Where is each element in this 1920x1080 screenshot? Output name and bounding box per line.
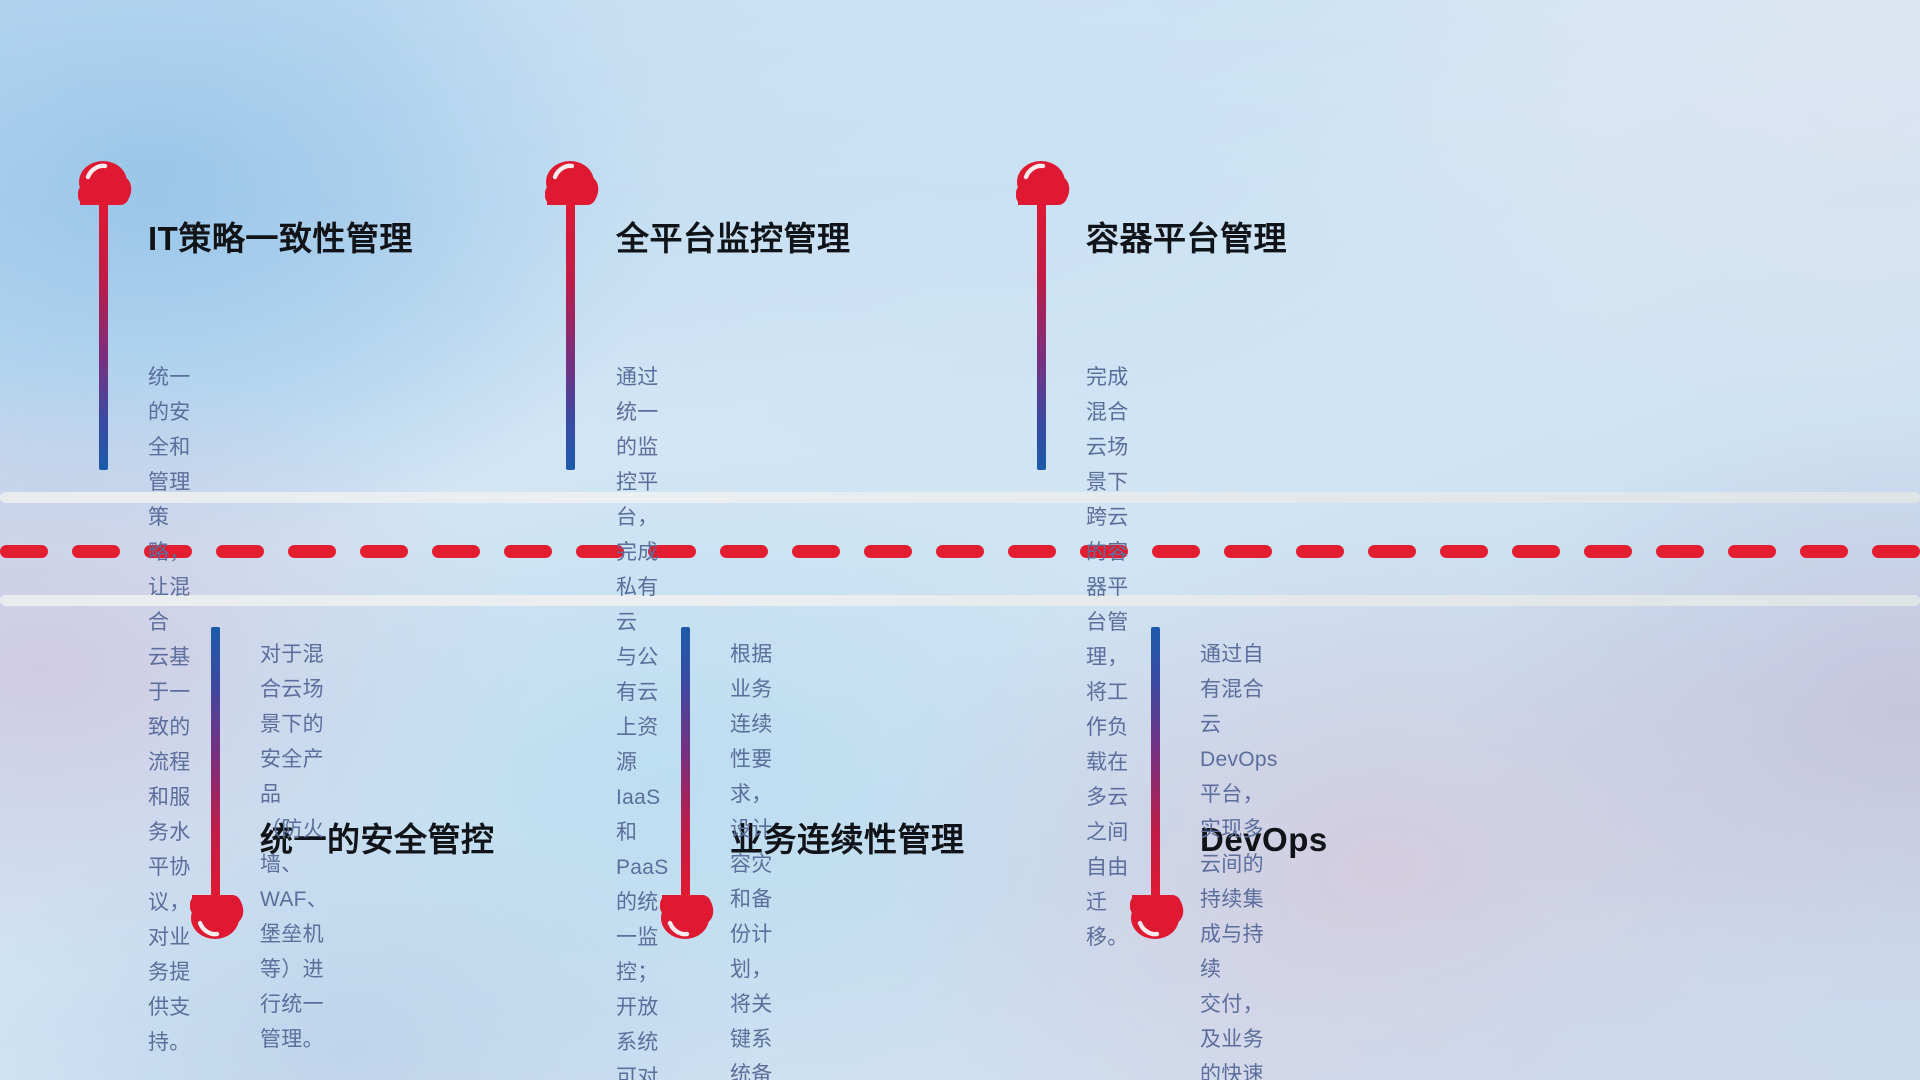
road-dash xyxy=(1224,545,1272,558)
pin-stem xyxy=(211,627,220,897)
card-heading: 全平台监控管理 xyxy=(616,222,851,255)
road-center-dashes xyxy=(0,545,1920,558)
card-heading: 容器平台管理 xyxy=(1086,222,1287,255)
road-dash xyxy=(1368,545,1416,558)
card-body-text: 统一的安全和管理策略，让混合 云基于一致的流程和服务水平协 议，对业务提供支持。 xyxy=(148,360,191,1060)
road-dash xyxy=(288,545,336,558)
road-dash xyxy=(1296,545,1344,558)
road-dash xyxy=(936,545,984,558)
pin-stem xyxy=(99,202,108,470)
cloud-icon xyxy=(184,895,246,940)
cloud-icon xyxy=(1010,160,1072,205)
road-dash xyxy=(1152,545,1200,558)
cloud-icon xyxy=(72,160,134,205)
cloud-icon xyxy=(539,160,601,205)
road-dash xyxy=(1872,545,1920,558)
pin-stem xyxy=(681,627,690,897)
road-dash xyxy=(1656,545,1704,558)
road-dash xyxy=(792,545,840,558)
road-dash xyxy=(72,545,120,558)
card-body-text: 通过统一的监控平台，完成私有云 与公有云上资源IaaS和PaaS的统 一监控；开… xyxy=(616,360,669,1080)
card-body-text: 完成混合云场景下跨云的容器平 台管理，将工作负载在多云之间 自由迁移。 xyxy=(1086,360,1129,955)
road-dash xyxy=(504,545,552,558)
road-dash xyxy=(1584,545,1632,558)
card-body-text: 根据业务连续性要求，设计容灾 和备份计划，将关键系统备份至 线上/线下，并定期校… xyxy=(730,637,773,1080)
pin-stem xyxy=(566,202,575,470)
road-dash xyxy=(864,545,912,558)
cloud-icon xyxy=(654,895,716,940)
card-body-text: 对于混合云场景下的安全产品 （防火墙、WAF、堡垒机等）进 行统一管理。 xyxy=(260,637,328,1057)
road-dash xyxy=(1728,545,1776,558)
card-heading: IT策略一致性管理 xyxy=(148,222,413,255)
cloud-icon xyxy=(1124,895,1186,940)
pin-stem xyxy=(1037,202,1046,470)
road-dash xyxy=(216,545,264,558)
card-body-text: 通过自有混合云DevOps平台， 实现多云间的持续集成与持续 交付，及业务的快速… xyxy=(1200,637,1278,1080)
road-dash xyxy=(432,545,480,558)
road-dash xyxy=(1512,545,1560,558)
road-dash xyxy=(0,545,48,558)
road-dash xyxy=(1008,545,1056,558)
pin-stem xyxy=(1151,627,1160,897)
road-dash xyxy=(1800,545,1848,558)
road-dash xyxy=(360,545,408,558)
road-edge-bottom xyxy=(0,595,1920,606)
road-dash xyxy=(720,545,768,558)
road-dash xyxy=(1440,545,1488,558)
road-edge-top xyxy=(0,492,1920,503)
